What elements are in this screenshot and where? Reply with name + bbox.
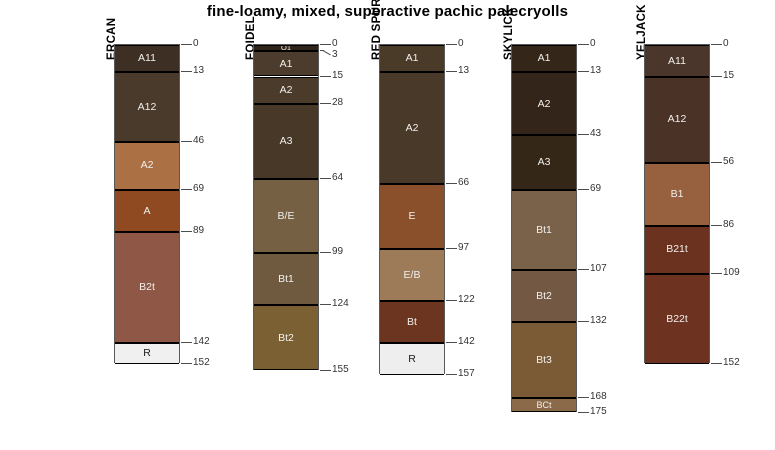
soil-horizon: A2 xyxy=(115,142,179,190)
soil-horizon: A1 xyxy=(380,45,444,72)
depth-tick xyxy=(711,162,722,163)
horizon-label: A11 xyxy=(138,53,156,64)
soil-horizon: A2 xyxy=(254,77,318,104)
depth-tick-label: 0 xyxy=(723,39,729,49)
depth-tick xyxy=(578,412,589,413)
horizon-label: A1 xyxy=(538,53,551,64)
depth-tick xyxy=(181,44,192,45)
soil-horizon: A2 xyxy=(380,72,444,183)
profile-bar: O1A1A2A3B/EBt1Bt2 xyxy=(253,44,319,370)
depth-tick xyxy=(578,321,589,322)
soil-horizon: B22t xyxy=(645,274,709,364)
depth-tick-label: 28 xyxy=(332,98,343,108)
depth-tick xyxy=(711,225,722,226)
horizon-label: A2 xyxy=(280,85,293,96)
horizon-label: E xyxy=(408,211,415,222)
depth-tick-label: 0 xyxy=(458,39,464,49)
soil-horizon: A11 xyxy=(645,45,709,77)
depth-tick-label: 132 xyxy=(590,316,607,326)
depth-tick-label: 56 xyxy=(723,157,734,167)
depth-tick xyxy=(711,363,722,364)
depth-tick xyxy=(320,304,331,305)
depth-tick xyxy=(181,363,192,364)
horizon-label: B22t xyxy=(666,314,688,325)
horizon-label: R xyxy=(143,348,151,359)
horizon-label: A3 xyxy=(538,157,551,168)
depth-tick-label: 142 xyxy=(458,337,475,347)
depth-tick xyxy=(446,300,457,301)
horizon-label: A2 xyxy=(406,123,419,134)
horizon-label: Bt xyxy=(407,317,417,328)
soil-horizon: A1 xyxy=(512,45,576,72)
depth-tick-label: 168 xyxy=(590,392,607,402)
profile-bar: A11A12A2AB2tR xyxy=(114,44,180,363)
depth-tick-label: 157 xyxy=(458,369,475,379)
depth-tick-label: 107 xyxy=(590,264,607,274)
soil-horizon: R xyxy=(380,343,444,375)
depth-tick xyxy=(711,44,722,45)
depth-tick xyxy=(446,248,457,249)
depth-tick-label: 3 xyxy=(332,50,338,60)
depth-tick-label: 152 xyxy=(193,358,210,368)
depth-tick-label: 15 xyxy=(332,71,343,81)
depth-tick xyxy=(320,76,331,77)
soil-horizon: E xyxy=(380,184,444,249)
horizon-label: A1 xyxy=(406,53,419,64)
horizon-label: A11 xyxy=(668,56,686,67)
horizon-label: Bt3 xyxy=(536,355,552,366)
horizon-label: B2t xyxy=(139,282,155,293)
horizon-label: Bt1 xyxy=(278,274,294,285)
horizon-label: A12 xyxy=(138,102,157,113)
depth-tick xyxy=(320,44,331,45)
soil-horizon: B/E xyxy=(254,179,318,253)
soil-horizon: A12 xyxy=(645,77,709,163)
soil-horizon: Bt2 xyxy=(254,305,318,370)
depth-tick-label: 86 xyxy=(723,220,734,230)
profile-bar: A1A2A3Bt1Bt2Bt3BCt xyxy=(511,44,577,412)
horizon-label: A2 xyxy=(141,160,154,171)
depth-tick-label: 155 xyxy=(332,365,349,375)
depth-tick-label: 0 xyxy=(332,39,338,49)
depth-tick-label: 66 xyxy=(458,178,469,188)
soil-horizon: A xyxy=(115,190,179,232)
depth-tick-label: 99 xyxy=(332,247,343,257)
depth-tick xyxy=(320,370,331,371)
depth-tick xyxy=(578,134,589,135)
soil-profile-figure: fine-loamy, mixed, superactive pachic pa… xyxy=(0,0,775,450)
horizon-label: Bt1 xyxy=(536,225,552,236)
soil-horizon: E/B xyxy=(380,249,444,302)
depth-tick-label: 175 xyxy=(590,407,607,417)
depth-tick xyxy=(578,397,589,398)
horizon-label: A3 xyxy=(280,136,293,147)
depth-tick-label: 64 xyxy=(332,173,343,183)
depth-tick xyxy=(320,252,331,253)
soil-horizon: A1 xyxy=(254,51,318,76)
horizon-label: BCt xyxy=(536,401,551,410)
soil-horizon: A3 xyxy=(254,104,318,180)
depth-tick-label: 124 xyxy=(332,299,349,309)
depth-tick xyxy=(446,374,457,375)
soil-horizon: Bt1 xyxy=(512,190,576,270)
depth-tick xyxy=(446,342,457,343)
soil-horizon: Bt xyxy=(380,301,444,343)
depth-tick xyxy=(181,141,192,142)
depth-tick xyxy=(181,189,192,190)
depth-tick-label: 69 xyxy=(590,184,601,194)
soil-horizon: B1 xyxy=(645,163,709,226)
depth-tick-label: 152 xyxy=(723,358,740,368)
horizon-label: Bt2 xyxy=(536,291,552,302)
depth-tick-label: 13 xyxy=(590,66,601,76)
depth-tick xyxy=(181,231,192,232)
depth-tick xyxy=(320,178,331,179)
depth-tick xyxy=(181,342,192,343)
depth-tick-label: 13 xyxy=(193,66,204,76)
soil-horizon: B21t xyxy=(645,226,709,274)
depth-tick xyxy=(181,71,192,72)
depth-tick-label: 46 xyxy=(193,136,204,146)
soil-horizon: A11 xyxy=(115,45,179,72)
depth-tick xyxy=(578,71,589,72)
profile-bar: A1A2EE/BBtR xyxy=(379,44,445,374)
soil-horizon: Bt3 xyxy=(512,322,576,398)
depth-tick-label: 0 xyxy=(590,39,596,49)
horizon-label: B21t xyxy=(666,244,688,255)
soil-horizon: A2 xyxy=(512,72,576,135)
horizon-label: A2 xyxy=(538,99,551,110)
soil-horizon: Bt2 xyxy=(512,270,576,323)
depth-tick xyxy=(578,189,589,190)
soil-horizon: A3 xyxy=(512,135,576,190)
soil-horizon: B2t xyxy=(115,232,179,343)
depth-tick-label: 109 xyxy=(723,268,740,278)
depth-tick-label: 142 xyxy=(193,337,210,347)
horizon-label: B/E xyxy=(278,211,295,222)
depth-tick-label: 69 xyxy=(193,184,204,194)
depth-tick-label: 122 xyxy=(458,295,475,305)
depth-tick-leader xyxy=(322,50,330,56)
horizon-label: A1 xyxy=(280,59,293,70)
depth-tick-label: 13 xyxy=(458,66,469,76)
depth-tick-label: 0 xyxy=(193,39,199,49)
depth-tick xyxy=(320,103,331,104)
depth-tick xyxy=(578,44,589,45)
horizon-label: E/B xyxy=(404,270,421,281)
horizon-label: A xyxy=(143,206,150,217)
depth-tick-label: 89 xyxy=(193,226,204,236)
horizon-label: A12 xyxy=(668,114,687,125)
depth-tick xyxy=(446,183,457,184)
depth-tick-label: 43 xyxy=(590,129,601,139)
depth-tick xyxy=(711,273,722,274)
depth-tick-label: 15 xyxy=(723,71,734,81)
soil-horizon: BCt xyxy=(512,398,576,413)
soil-horizon: A12 xyxy=(115,72,179,141)
depth-tick xyxy=(578,269,589,270)
profile-bar: A11A12B1B21tB22t xyxy=(644,44,710,363)
soil-horizon: Bt1 xyxy=(254,253,318,306)
horizon-label: R xyxy=(408,354,416,365)
horizon-label: B1 xyxy=(671,189,684,200)
horizon-label: Bt2 xyxy=(278,333,294,344)
soil-horizon: R xyxy=(115,343,179,364)
depth-tick-label: 97 xyxy=(458,243,469,253)
depth-tick xyxy=(446,44,457,45)
depth-tick xyxy=(711,76,722,77)
depth-tick xyxy=(446,71,457,72)
